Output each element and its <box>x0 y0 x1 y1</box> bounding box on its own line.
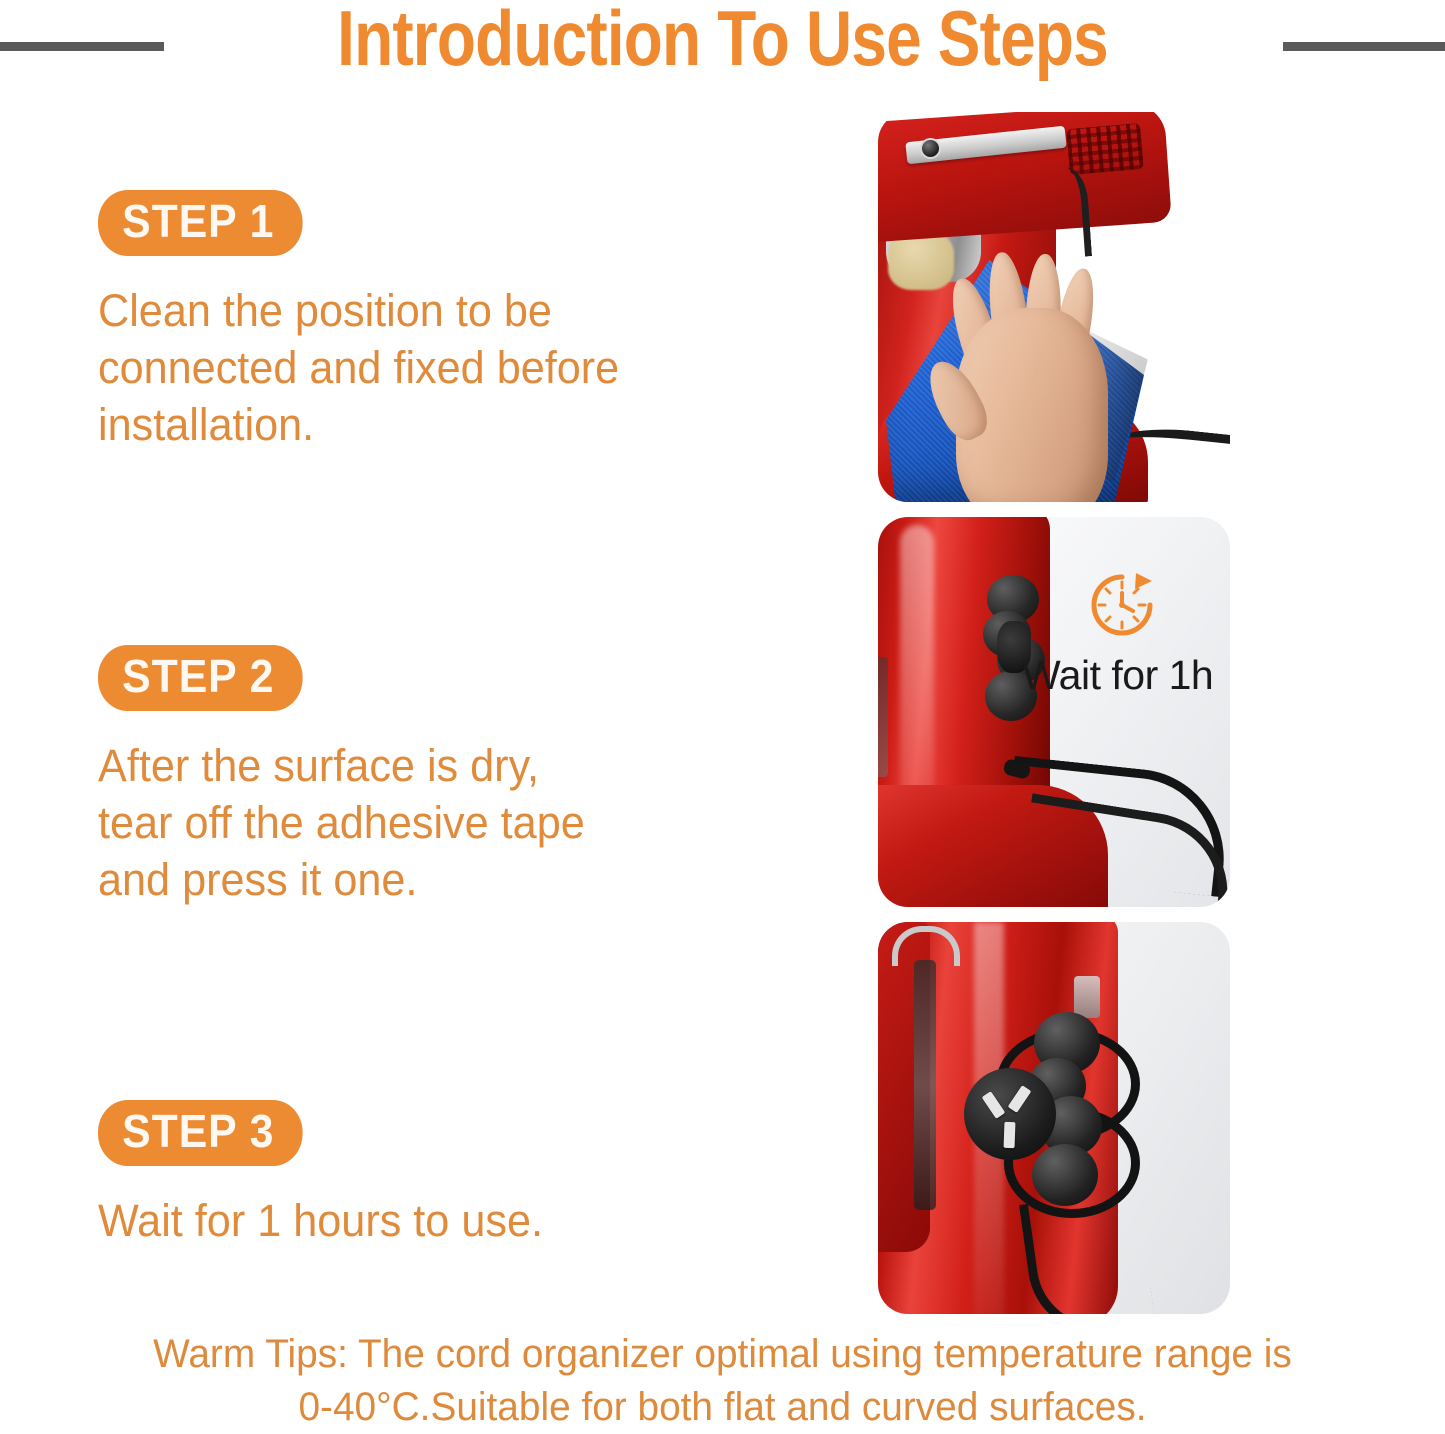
mixer-side-panel <box>878 657 888 777</box>
plug-pin <box>1004 1122 1016 1148</box>
mixer-screw <box>920 138 941 159</box>
wait-for-1h-label: Wait for 1h <box>1022 652 1213 699</box>
step-item-2: STEP 2 After the surface is dry, tear of… <box>98 645 838 908</box>
step-item-1: STEP 1 Clean the position to be connecte… <box>98 190 838 453</box>
steps-column: STEP 1 Clean the position to be connecte… <box>0 100 860 1310</box>
page-header: Introduction To Use Steps <box>0 0 1445 100</box>
mixer-body-highlight <box>900 525 934 825</box>
step-description-2: After the surface is dry, tear off the a… <box>98 738 732 908</box>
step-badge-3: STEP 3 <box>98 1100 302 1166</box>
step-item-3: STEP 3 Wait for 1 hours to use. <box>98 1100 838 1250</box>
cord-tail <box>1019 1188 1156 1314</box>
cleaning-surface-photo <box>878 112 1230 502</box>
clock-arrow-icon <box>1086 569 1158 641</box>
wait-one-hour-photo: Wait for 1h <box>878 517 1230 907</box>
warm-tips-text: Warm Tips: The cord organizer optimal us… <box>22 1328 1424 1434</box>
step-badge-1: STEP 1 <box>98 190 302 256</box>
cord-wrapped-photo <box>878 922 1230 1314</box>
mixer-vent <box>1066 123 1144 175</box>
step-badge-2: STEP 2 <box>98 645 302 711</box>
mixer-seam <box>914 960 936 1210</box>
step-description-3: Wait for 1 hours to use. <box>98 1193 732 1250</box>
page-title: Introduction To Use Steps <box>130 0 1315 84</box>
step-description-1: Clean the position to be connected and f… <box>98 283 732 453</box>
photos-column: Wait for 1h <box>878 112 1230 1314</box>
